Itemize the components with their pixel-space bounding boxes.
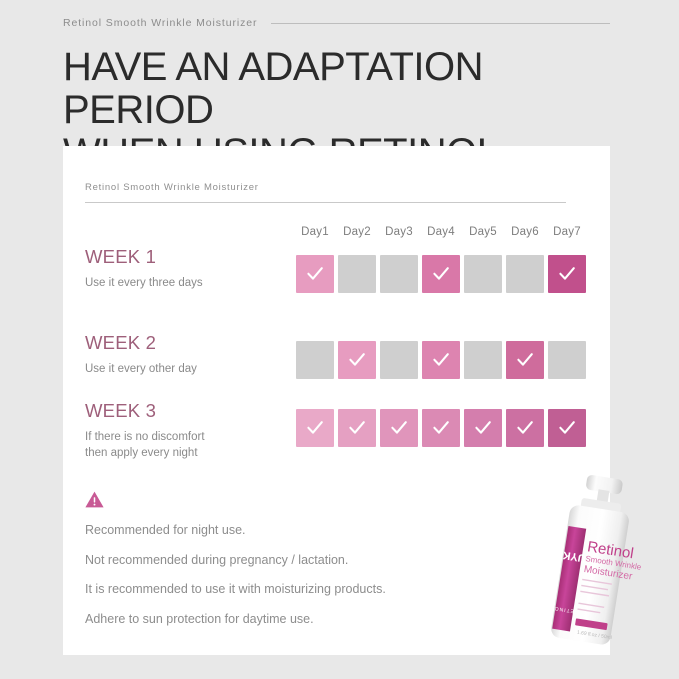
day-swatch-active[interactable] [506, 341, 544, 379]
day-swatch-inactive[interactable] [380, 255, 418, 293]
check-icon [431, 418, 451, 438]
day-swatch-inactive[interactable] [338, 255, 376, 293]
check-icon [557, 418, 577, 438]
day-swatch-inactive[interactable] [296, 341, 334, 379]
note-line: Not recommended during pregnancy / lacta… [85, 554, 515, 567]
routine-card: Retinol Smooth Wrinkle Moisturizer Day1D… [63, 146, 610, 655]
week-row: WEEK 1Use it every three days [85, 246, 588, 310]
day-swatch-active[interactable] [338, 341, 376, 379]
day-swatch-inactive[interactable] [464, 341, 502, 379]
week-title: WEEK 2 [85, 332, 295, 354]
card-divider [85, 202, 566, 203]
week-swatch-strip [296, 341, 586, 379]
notes-section: Recommended for night use.Not recommende… [85, 491, 515, 625]
week-info: WEEK 3If there is no discomfort then app… [85, 400, 295, 462]
day-swatch-active[interactable] [296, 409, 334, 447]
day-header-label: Day2 [338, 226, 376, 238]
day-swatch-inactive[interactable] [464, 255, 502, 293]
day-swatch-active[interactable] [338, 409, 376, 447]
day-swatch-active[interactable] [548, 255, 586, 293]
warning-triangle-icon [85, 491, 104, 508]
day-swatch-inactive[interactable] [548, 341, 586, 379]
check-icon [431, 350, 451, 370]
check-icon [347, 418, 367, 438]
week-swatch-strip [296, 255, 586, 293]
week-title: WEEK 3 [85, 400, 295, 422]
note-line: Adhere to sun protection for daytime use… [85, 613, 515, 626]
check-icon [347, 350, 367, 370]
day-swatch-inactive[interactable] [506, 255, 544, 293]
check-icon [515, 418, 535, 438]
day-swatch-active[interactable] [464, 409, 502, 447]
page-eyebrow-text: Retinol Smooth Wrinkle Moisturizer [63, 17, 257, 29]
day-swatch-active[interactable] [422, 255, 460, 293]
day-header-label: Day6 [506, 226, 544, 238]
day-header-label: Day3 [380, 226, 418, 238]
week-row: WEEK 3If there is no discomfort then app… [85, 400, 588, 464]
card-eyebrow-text: Retinol Smooth Wrinkle Moisturizer [85, 182, 259, 193]
check-icon [431, 264, 451, 284]
page-eyebrow-row: Retinol Smooth Wrinkle Moisturizer [63, 14, 610, 32]
header-divider [271, 23, 610, 24]
day-header-label: Day4 [422, 226, 460, 238]
note-line: Recommended for night use. [85, 524, 515, 537]
day-swatch-active[interactable] [548, 409, 586, 447]
week-info: WEEK 1Use it every three days [85, 246, 295, 291]
week-subtitle: Use it every other day [85, 361, 295, 377]
check-icon [389, 418, 409, 438]
day-swatch-active[interactable] [506, 409, 544, 447]
week-title: WEEK 1 [85, 246, 295, 268]
day-swatch-active[interactable] [296, 255, 334, 293]
day-swatch-inactive[interactable] [380, 341, 418, 379]
day-header-row: Day1Day2Day3Day4Day5Day6Day7 [296, 226, 586, 238]
week-subtitle: Use it every three days [85, 275, 295, 291]
check-icon [473, 418, 493, 438]
week-info: WEEK 2Use it every other day [85, 332, 295, 377]
week-swatch-strip [296, 409, 586, 447]
notes-list: Recommended for night use.Not recommende… [85, 524, 515, 625]
week-subtitle: If there is no discomfort then apply eve… [85, 429, 295, 462]
day-swatch-active[interactable] [422, 341, 460, 379]
product-bottle-image: DUYKIN RETINOL Retinol Smooth Wrinkle Mo… [519, 464, 666, 661]
check-icon [305, 264, 325, 284]
check-icon [515, 350, 535, 370]
week-row: WEEK 2Use it every other day [85, 332, 588, 396]
note-line: It is recommended to use it with moistur… [85, 583, 515, 596]
day-header-label: Day7 [548, 226, 586, 238]
day-header-label: Day1 [296, 226, 334, 238]
day-swatch-active[interactable] [380, 409, 418, 447]
day-header-label: Day5 [464, 226, 502, 238]
check-icon [305, 418, 325, 438]
day-swatch-active[interactable] [422, 409, 460, 447]
check-icon [557, 264, 577, 284]
